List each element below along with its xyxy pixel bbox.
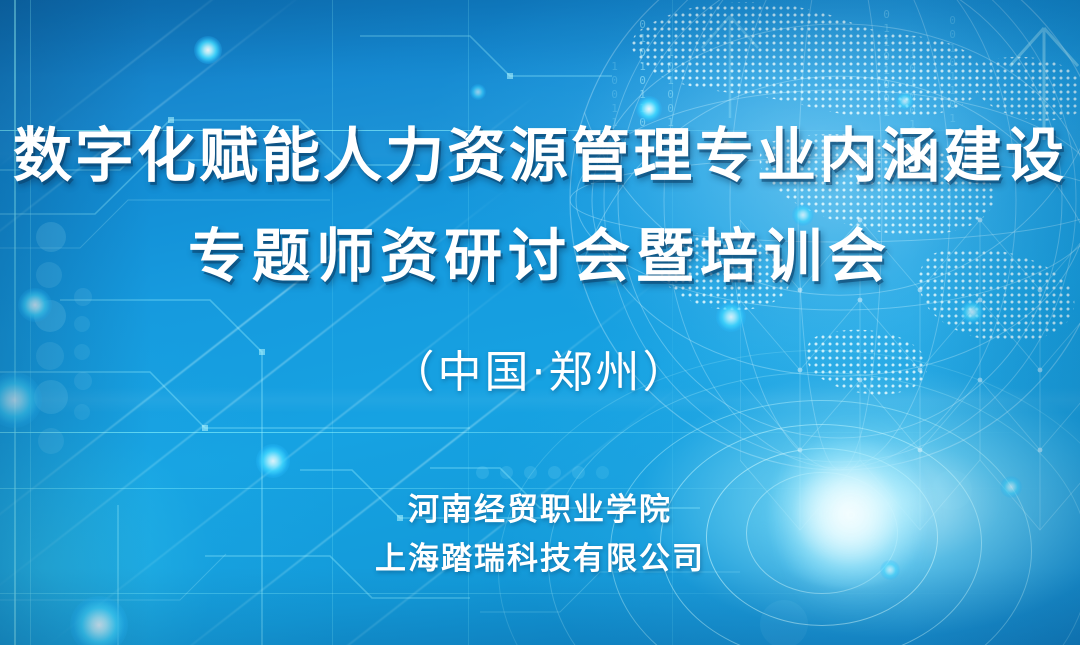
organizer-list: 河南经贸职业学院 上海踏瑞科技有限公司: [375, 492, 705, 577]
banner-content: 数字化赋能人力资源管理专业内涵建设 专题师资研讨会暨培训会 （中国·郑州） 河南…: [0, 0, 1080, 645]
banner-title-line-1: 数字化赋能人力资源管理专业内涵建设: [13, 126, 1067, 185]
conference-banner: 01010110 10100101 01101001 11010010 0010…: [0, 0, 1080, 645]
banner-location: （中国·郑州）: [391, 351, 690, 395]
organizer-item: 上海踏瑞科技有限公司: [375, 541, 705, 578]
organizer-item: 河南经贸职业学院: [408, 492, 672, 529]
banner-title-line-2: 专题师资研讨会暨培训会: [188, 227, 892, 285]
